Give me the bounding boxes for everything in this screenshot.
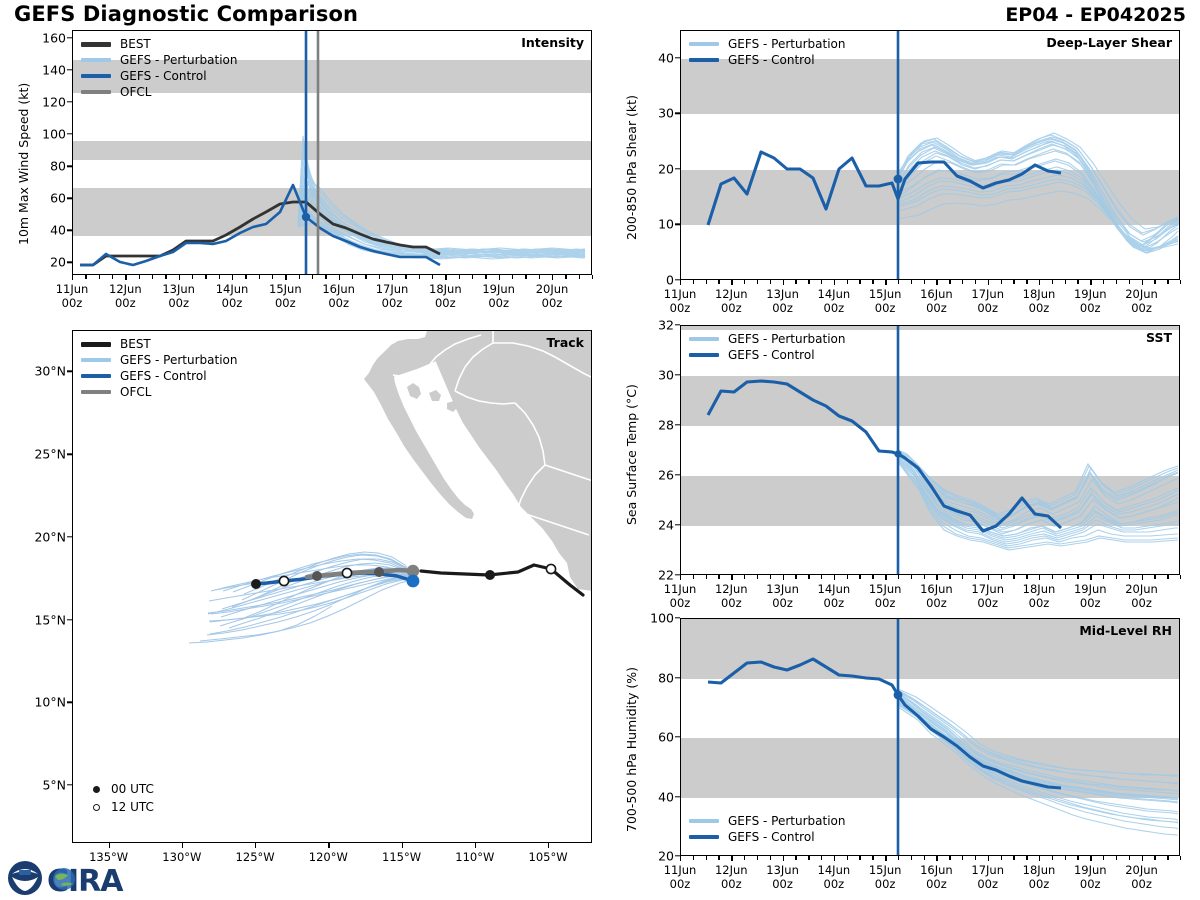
legend-swatch-ofcl — [81, 90, 111, 94]
y-tick-mark — [675, 736, 680, 737]
land-island-1 — [407, 383, 421, 399]
y-tick-label: 40 — [634, 789, 674, 804]
y-tick-mark — [675, 796, 680, 797]
x-minor-tick-mark — [512, 275, 513, 279]
track-map-svg — [73, 331, 592, 843]
x-tick-day: 11Jun — [664, 287, 697, 301]
y-tick-label: 60 — [634, 730, 674, 745]
x-minor-tick-mark — [821, 280, 822, 284]
sst-control-line — [708, 381, 1061, 531]
x-minor-tick-mark — [85, 275, 86, 279]
y-tick-label: 28 — [634, 418, 674, 433]
shear-legend-row-perturbation: GEFS - Perturbation — [689, 36, 845, 52]
x-tick-mark — [1142, 575, 1143, 580]
marker-12utc-icon — [81, 804, 111, 811]
x-minor-tick-mark — [821, 856, 822, 860]
track-x-tick-mark — [109, 843, 110, 848]
x-tick-day: 18Jun — [429, 282, 462, 296]
x-minor-tick-mark — [962, 856, 963, 860]
track-marker-ofcl-12utc — [342, 568, 351, 577]
y-tick-label: 100 — [26, 127, 66, 142]
track-x-tick-label: 130°W — [162, 850, 201, 864]
x-minor-tick-mark — [847, 575, 848, 579]
track-x-tick-mark — [548, 843, 549, 848]
x-tick-label: 19Jun00z — [1074, 582, 1107, 611]
x-tick-day: 13Jun — [766, 582, 799, 596]
x-tick-mark — [988, 575, 989, 580]
x-tick-label: 11Jun00z — [664, 287, 697, 316]
legend-row-ofcl: OFCL — [81, 84, 237, 100]
x-minor-tick-mark — [770, 280, 771, 284]
x-tick-hour: 00z — [109, 296, 142, 310]
track-y-tick-mark — [67, 619, 72, 620]
x-tick-label: 18Jun00z — [1023, 582, 1056, 611]
x-tick-hour: 00z — [376, 296, 409, 310]
sst-legend-label-perturbation: GEFS - Perturbation — [728, 333, 845, 345]
x-tick-label: 17Jun00z — [376, 282, 409, 311]
marker-legend-label-00utc: 00 UTC — [111, 782, 154, 796]
x-tick-day: 13Jun — [766, 863, 799, 877]
x-minor-tick-mark — [911, 575, 912, 579]
rh-plot-area: Mid-Level RH GEFS - Perturbation GEFS - … — [680, 618, 1180, 856]
x-tick-mark — [339, 275, 340, 280]
marker-legend-label-12utc: 12 UTC — [111, 800, 154, 814]
x-tick-label: 14Jun00z — [818, 863, 851, 892]
x-tick-mark — [936, 280, 937, 285]
rh-analysis-marker — [894, 691, 903, 700]
y-tick-mark — [67, 133, 72, 134]
track-marker-control-12utc — [279, 576, 288, 585]
land-mainland — [427, 331, 592, 591]
x-minor-tick-mark — [757, 856, 758, 860]
x-minor-tick-mark — [1001, 856, 1002, 860]
x-minor-tick-mark — [525, 275, 526, 279]
x-tick-label: 16Jun00z — [322, 282, 355, 311]
x-tick-hour: 00z — [322, 296, 355, 310]
x-tick-hour: 00z — [869, 596, 902, 610]
x-minor-tick-mark — [1077, 856, 1078, 860]
track-best-line — [421, 565, 583, 595]
x-minor-tick-mark — [1167, 280, 1168, 284]
marker-00utc-icon — [81, 786, 111, 793]
x-minor-tick-mark — [325, 275, 326, 279]
x-tick-mark — [680, 856, 681, 861]
x-tick-day: 14Jun — [818, 287, 851, 301]
shear-legend-label-perturbation: GEFS - Perturbation — [728, 38, 845, 50]
x-tick-day: 18Jun — [1023, 863, 1056, 877]
x-tick-mark — [988, 856, 989, 861]
y-tick-mark — [675, 168, 680, 169]
x-tick-hour: 00z — [920, 877, 953, 891]
y-tick-label: 24 — [634, 518, 674, 533]
shear-panel-title: Deep-Layer Shear — [1046, 35, 1172, 50]
sst-panel-title: SST — [1146, 330, 1172, 345]
y-tick-label: 80 — [634, 670, 674, 685]
track-x-tick-label: 105°W — [529, 850, 568, 864]
x-minor-tick-mark — [1001, 280, 1002, 284]
x-minor-tick-mark — [1013, 280, 1014, 284]
x-tick-hour: 00z — [818, 877, 851, 891]
x-minor-tick-mark — [379, 275, 380, 279]
x-tick-day: 11Jun — [56, 282, 89, 296]
x-minor-tick-mark — [419, 275, 420, 279]
x-tick-hour: 00z — [715, 596, 748, 610]
x-tick-label: 16Jun00z — [920, 287, 953, 316]
y-tick-mark — [675, 374, 680, 375]
track-legend-row-control: GEFS - Control — [81, 368, 237, 384]
x-tick-day: 20Jun — [536, 282, 569, 296]
x-tick-label: 11Jun00z — [664, 582, 697, 611]
land-island-2 — [429, 390, 441, 401]
track-y-tick-mark — [67, 702, 72, 703]
x-tick-label: 16Jun00z — [920, 582, 953, 611]
y-tick-mark — [67, 165, 72, 166]
track-marker-legend: 00 UTC 12 UTC — [81, 780, 154, 816]
y-tick-label: 60 — [26, 191, 66, 206]
x-tick-hour: 00z — [482, 296, 515, 310]
x-tick-mark — [125, 275, 126, 280]
x-tick-mark — [1039, 280, 1040, 285]
track-x-tick-mark — [328, 843, 329, 848]
x-minor-tick-mark — [924, 575, 925, 579]
track-marker-12utc — [546, 564, 555, 573]
x-minor-tick-mark — [1167, 856, 1168, 860]
track-y-tick-mark — [67, 784, 72, 785]
x-tick-label: 11Jun00z — [664, 863, 697, 892]
track-x-tick-mark — [402, 843, 403, 848]
x-minor-tick-mark — [1180, 575, 1181, 579]
x-tick-day: 16Jun — [322, 282, 355, 296]
x-tick-day: 12Jun — [715, 287, 748, 301]
y-tick-mark — [67, 69, 72, 70]
x-tick-day: 19Jun — [482, 282, 515, 296]
rh-legend-label-perturbation: GEFS - Perturbation — [728, 815, 845, 827]
x-tick-hour: 00z — [1074, 596, 1107, 610]
x-tick-label: 15Jun00z — [869, 287, 902, 316]
x-tick-label: 19Jun00z — [1074, 863, 1107, 892]
x-tick-mark — [1090, 280, 1091, 285]
x-tick-mark — [1039, 575, 1040, 580]
y-tick-label: 120 — [26, 95, 66, 110]
track-y-tick-label: 15°N — [14, 612, 66, 627]
x-tick-hour: 00z — [869, 301, 902, 315]
x-tick-hour: 00z — [1074, 301, 1107, 315]
track-plot-area: Track BEST GEFS - Perturbation GEFS - Co… — [72, 330, 592, 843]
track-y-tick-label: 10°N — [14, 695, 66, 710]
x-tick-mark — [1142, 280, 1143, 285]
track-marker-00utc — [485, 570, 495, 580]
x-tick-hour: 00z — [971, 301, 1004, 315]
x-tick-day: 20Jun — [1125, 863, 1158, 877]
sst-legend-label-control: GEFS - Control — [728, 349, 815, 361]
x-tick-mark — [1142, 856, 1143, 861]
x-tick-hour: 00z — [766, 877, 799, 891]
track-legend-row-ofcl: OFCL — [81, 384, 237, 400]
sst-series-svg — [681, 326, 1180, 575]
x-tick-mark — [1090, 856, 1091, 861]
track-legend-label-best: BEST — [120, 338, 151, 350]
x-tick-mark — [936, 575, 937, 580]
x-tick-label: 13Jun00z — [766, 863, 799, 892]
marker-legend-row-12utc: 12 UTC — [81, 798, 154, 816]
x-minor-tick-mark — [592, 275, 593, 279]
y-tick-label: 140 — [26, 63, 66, 78]
shear-legend: GEFS - Perturbation GEFS - Control — [689, 36, 845, 68]
x-minor-tick-mark — [706, 856, 707, 860]
track-x-tick-label: 125°W — [236, 850, 275, 864]
x-tick-hour: 00z — [971, 877, 1004, 891]
y-tick-mark — [67, 229, 72, 230]
sst-legend-swatch-perturbation — [689, 337, 719, 341]
x-tick-mark — [445, 275, 446, 280]
x-minor-tick-mark — [847, 280, 848, 284]
intensity-control-line — [80, 185, 440, 265]
sst-legend-row-perturbation: GEFS - Perturbation — [689, 331, 845, 347]
legend-label-best: BEST — [120, 38, 151, 50]
x-minor-tick-mark — [219, 275, 220, 279]
rh-panel-title: Mid-Level RH — [1079, 623, 1172, 638]
x-minor-tick-mark — [924, 280, 925, 284]
track-legend-row-perturbation: GEFS - Perturbation — [81, 352, 237, 368]
x-tick-hour: 00z — [536, 296, 569, 310]
x-minor-tick-mark — [949, 856, 950, 860]
rh-ylabel: 700-500 hPa Humidity (%) — [624, 667, 639, 832]
x-minor-tick-mark — [139, 275, 140, 279]
track-legend-swatch-ofcl — [81, 390, 111, 394]
x-tick-day: 19Jun — [1074, 863, 1107, 877]
x-tick-hour: 00z — [269, 296, 302, 310]
marker-legend-row-00utc: 00 UTC — [81, 780, 154, 798]
x-tick-label: 19Jun00z — [482, 282, 515, 311]
x-tick-hour: 00z — [664, 301, 697, 315]
x-minor-tick-mark — [962, 280, 963, 284]
x-minor-tick-mark — [872, 856, 873, 860]
x-tick-mark — [731, 856, 732, 861]
x-tick-day: 13Jun — [162, 282, 195, 296]
x-tick-day: 18Jun — [1023, 582, 1056, 596]
x-tick-hour: 00z — [1125, 301, 1158, 315]
x-minor-tick-mark — [872, 280, 873, 284]
y-tick-mark — [67, 261, 72, 262]
x-tick-day: 19Jun — [1074, 582, 1107, 596]
x-minor-tick-mark — [949, 280, 950, 284]
x-minor-tick-mark — [1065, 575, 1066, 579]
x-tick-day: 15Jun — [869, 287, 902, 301]
y-tick-mark — [675, 224, 680, 225]
x-tick-mark — [783, 280, 784, 285]
legend-row-control: GEFS - Control — [81, 68, 237, 84]
track-x-tick-mark — [255, 843, 256, 848]
x-minor-tick-mark — [693, 280, 694, 284]
track-y-tick-label: 5°N — [14, 778, 66, 793]
legend-swatch-perturbation — [81, 58, 111, 62]
x-tick-hour: 00z — [971, 596, 1004, 610]
x-tick-day: 11Jun — [664, 863, 697, 877]
x-minor-tick-mark — [898, 280, 899, 284]
intensity-legend: BEST GEFS - Perturbation GEFS - Control … — [81, 36, 237, 100]
y-tick-label: 30 — [634, 368, 674, 383]
x-minor-tick-mark — [770, 856, 771, 860]
track-y-tick-label: 20°N — [14, 529, 66, 544]
x-tick-label: 19Jun00z — [1074, 287, 1107, 316]
x-minor-tick-mark — [539, 275, 540, 279]
x-tick-mark — [885, 856, 886, 861]
y-tick-mark — [675, 113, 680, 114]
x-tick-hour: 00z — [664, 596, 697, 610]
x-tick-mark — [1039, 856, 1040, 861]
x-tick-hour: 00z — [869, 877, 902, 891]
x-tick-day: 14Jun — [216, 282, 249, 296]
shear-legend-swatch-control — [689, 58, 719, 62]
x-minor-tick-mark — [975, 575, 976, 579]
x-minor-tick-mark — [485, 275, 486, 279]
x-minor-tick-mark — [299, 275, 300, 279]
x-tick-label: 13Jun00z — [162, 282, 195, 311]
x-minor-tick-mark — [718, 856, 719, 860]
sst-analysis-marker — [894, 450, 901, 457]
x-tick-mark — [834, 575, 835, 580]
x-tick-label: 20Jun00z — [1125, 863, 1158, 892]
x-minor-tick-mark — [821, 575, 822, 579]
x-tick-mark — [285, 275, 286, 280]
y-tick-label: 40 — [634, 50, 674, 65]
x-minor-tick-mark — [192, 275, 193, 279]
x-minor-tick-mark — [1103, 856, 1104, 860]
x-tick-mark — [936, 856, 937, 861]
x-tick-label: 17Jun00z — [971, 582, 1004, 611]
x-tick-label: 18Jun00z — [429, 282, 462, 311]
x-minor-tick-mark — [1026, 856, 1027, 860]
x-tick-day: 15Jun — [269, 282, 302, 296]
x-minor-tick-mark — [706, 280, 707, 284]
shear-analysis-marker — [894, 175, 903, 184]
x-minor-tick-mark — [312, 275, 313, 279]
x-minor-tick-mark — [1013, 856, 1014, 860]
x-tick-mark — [72, 275, 73, 280]
track-legend: BEST GEFS - Perturbation GEFS - Control … — [81, 336, 237, 400]
x-minor-tick-mark — [949, 575, 950, 579]
x-tick-label: 15Jun00z — [269, 282, 302, 311]
x-minor-tick-mark — [405, 275, 406, 279]
x-minor-tick-mark — [472, 275, 473, 279]
x-tick-mark — [834, 856, 835, 861]
intensity-analysis-marker — [302, 213, 310, 221]
x-tick-label: 12Jun00z — [715, 863, 748, 892]
x-tick-mark — [731, 280, 732, 285]
x-tick-label: 14Jun00z — [216, 282, 249, 311]
x-tick-mark — [731, 575, 732, 580]
x-tick-day: 12Jun — [715, 863, 748, 877]
track-y-tick-mark — [67, 371, 72, 372]
x-minor-tick-mark — [924, 856, 925, 860]
rh-legend-swatch-control — [689, 835, 719, 839]
x-tick-hour: 00z — [920, 301, 953, 315]
x-tick-day: 17Jun — [971, 582, 1004, 596]
x-minor-tick-mark — [1052, 856, 1053, 860]
x-tick-mark — [988, 280, 989, 285]
x-tick-label: 20Jun00z — [1125, 287, 1158, 316]
x-minor-tick-mark — [1001, 575, 1002, 579]
x-minor-tick-mark — [432, 275, 433, 279]
y-tick-label: 160 — [26, 31, 66, 46]
track-marker-ofcl-gray-1 — [374, 567, 384, 577]
x-minor-tick-mark — [1154, 856, 1155, 860]
sst-ylabel: Sea Surface Temp (°C) — [624, 384, 639, 525]
x-tick-label: 18Jun00z — [1023, 863, 1056, 892]
sst-legend-row-control: GEFS - Control — [689, 347, 845, 363]
x-tick-hour: 00z — [766, 301, 799, 315]
x-minor-tick-mark — [1052, 280, 1053, 284]
x-tick-mark — [783, 856, 784, 861]
x-tick-day: 14Jun — [818, 582, 851, 596]
x-minor-tick-mark — [1103, 575, 1104, 579]
track-marker-control-current — [407, 575, 420, 588]
x-tick-day: 11Jun — [664, 582, 697, 596]
x-minor-tick-mark — [911, 856, 912, 860]
track-x-tick-label: 120°W — [309, 850, 348, 864]
y-tick-mark — [675, 474, 680, 475]
y-tick-mark — [675, 617, 680, 618]
x-minor-tick-mark — [795, 280, 796, 284]
x-tick-day: 15Jun — [869, 582, 902, 596]
track-legend-swatch-perturbation — [81, 358, 111, 362]
x-tick-mark — [885, 280, 886, 285]
x-tick-label: 20Jun00z — [536, 282, 569, 311]
x-tick-hour: 00z — [1074, 877, 1107, 891]
logo-group: CIRA — [6, 858, 130, 898]
x-tick-hour: 00z — [715, 301, 748, 315]
x-tick-label: 16Jun00z — [920, 863, 953, 892]
x-tick-label: 18Jun00z — [1023, 287, 1056, 316]
x-tick-hour: 00z — [162, 296, 195, 310]
track-y-tick-label: 30°N — [14, 364, 66, 379]
x-tick-day: 16Jun — [920, 287, 953, 301]
x-minor-tick-mark — [365, 275, 366, 279]
x-tick-label: 14Jun00z — [818, 287, 851, 316]
x-minor-tick-mark — [898, 575, 899, 579]
x-tick-day: 20Jun — [1125, 287, 1158, 301]
x-tick-hour: 00z — [715, 877, 748, 891]
x-tick-hour: 00z — [429, 296, 462, 310]
x-tick-day: 12Jun — [109, 282, 142, 296]
y-tick-label: 100 — [634, 611, 674, 626]
x-minor-tick-mark — [579, 275, 580, 279]
x-minor-tick-mark — [1065, 856, 1066, 860]
y-tick-label: 22 — [634, 568, 674, 583]
x-minor-tick-mark — [1154, 280, 1155, 284]
x-minor-tick-mark — [693, 575, 694, 579]
x-tick-mark — [1090, 575, 1091, 580]
x-tick-hour: 00z — [1125, 596, 1158, 610]
y-tick-label: 80 — [26, 159, 66, 174]
x-minor-tick-mark — [808, 280, 809, 284]
x-minor-tick-mark — [808, 575, 809, 579]
x-tick-label: 17Jun00z — [971, 287, 1004, 316]
x-minor-tick-mark — [205, 275, 206, 279]
track-y-tick-mark — [67, 453, 72, 454]
track-legend-row-best: BEST — [81, 336, 237, 352]
x-minor-tick-mark — [165, 275, 166, 279]
legend-swatch-control — [81, 74, 111, 78]
y-tick-mark — [675, 424, 680, 425]
page-title: GEFS Diagnostic Comparison — [14, 2, 358, 26]
intensity-plot-area: Intensity BEST GEFS - Perturbation GEFS … — [72, 30, 592, 275]
rh-legend-row-perturbation: GEFS - Perturbation — [689, 813, 845, 829]
x-minor-tick-mark — [1013, 575, 1014, 579]
y-tick-label: 20 — [634, 849, 674, 864]
x-tick-label: 12Jun00z — [109, 282, 142, 311]
track-y-tick-label: 25°N — [14, 447, 66, 462]
